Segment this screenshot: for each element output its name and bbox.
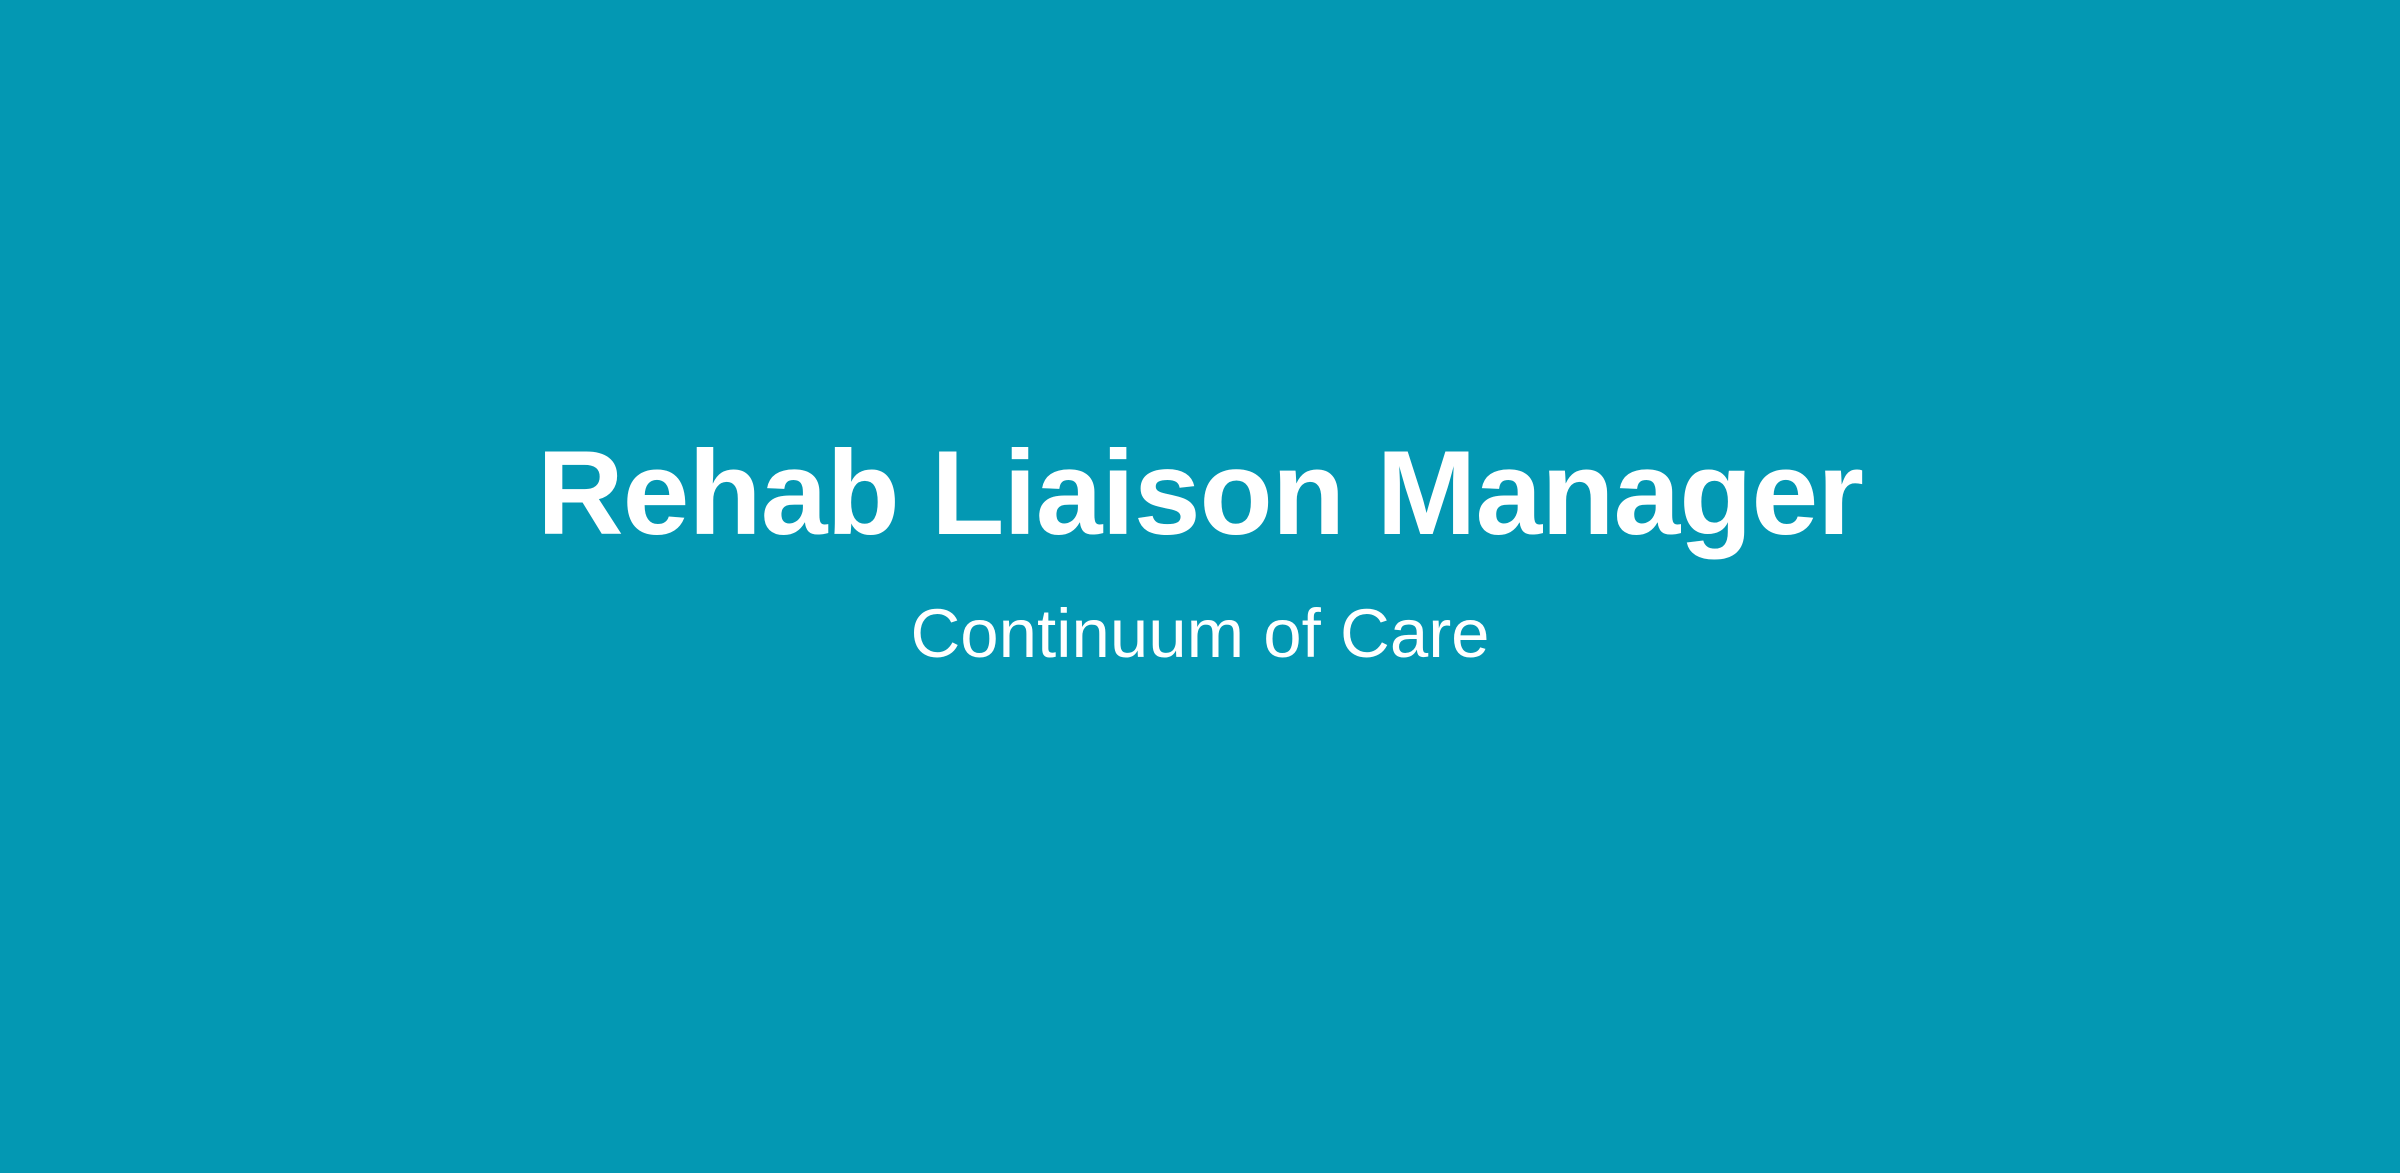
title-block: Rehab Liaison Manager Continuum of Care — [0, 433, 2400, 668]
title-slide: Rehab Liaison Manager Continuum of Care — [0, 0, 2400, 1173]
page-title: Rehab Liaison Manager — [537, 433, 1863, 553]
page-subtitle: Continuum of Care — [910, 599, 1489, 668]
